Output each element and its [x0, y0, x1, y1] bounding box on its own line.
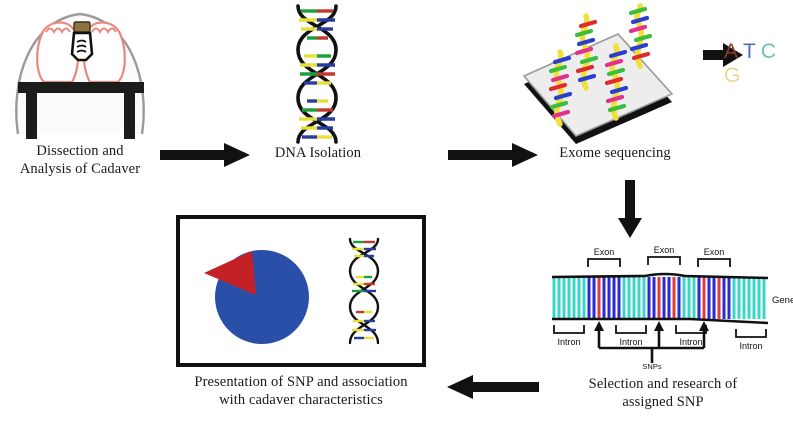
sequencing-chip — [524, 34, 672, 144]
exon-brackets — [588, 257, 730, 267]
gene-body — [552, 274, 768, 323]
step-dissection-illustration — [0, 2, 165, 142]
caption-dna-isolation: DNA Isolation — [253, 145, 383, 163]
snps-label: SNPs — [642, 362, 661, 371]
arrow-gene-to-result — [443, 374, 541, 400]
caption-snp-selection: Selection and research of assigned SNP — [548, 376, 778, 411]
table-top — [18, 82, 144, 93]
exon-label-2: Exon — [654, 245, 675, 255]
dna-helix-large — [298, 6, 336, 142]
step-dna-isolation-illustration — [282, 4, 352, 144]
step-snp-presentation-illustration — [176, 215, 426, 367]
toe-tag-shape — [72, 33, 92, 60]
caption-snp-presentation: Presentation of SNP and association with… — [166, 374, 436, 409]
arrow-exome-to-gene — [617, 180, 643, 240]
base-letter-g: G — [724, 64, 741, 87]
caption-exome-sequencing: Exome sequencing — [540, 145, 690, 163]
step-gene-diagram-illustration: Exon Exon Exon Intron Intron Intron Intr… — [540, 245, 790, 370]
intron-label-4: Intron — [739, 341, 762, 351]
sequence-readout-atcg: A T C G — [724, 40, 793, 68]
figure-canvas: Dissection and Analysis of Cadaver — [0, 0, 793, 421]
intron-label-2: Intron — [619, 337, 642, 347]
step-exome-sequencing-illustration — [520, 6, 695, 146]
table-leg-left — [26, 93, 37, 139]
base-letter-a: A — [724, 40, 739, 63]
arrow-dissection-to-dna — [160, 142, 252, 168]
exon-label-3: Exon — [704, 247, 725, 257]
base-letter-c: C — [761, 40, 777, 63]
table-leg-right — [124, 93, 135, 139]
tag-knot — [74, 22, 90, 32]
intron-label-1: Intron — [557, 337, 580, 347]
exon-label-1: Exon — [594, 247, 615, 257]
intron-label-3: Intron — [679, 337, 702, 347]
base-letter-t: T — [743, 40, 757, 63]
caption-dissection: Dissection and Analysis of Cadaver — [0, 143, 160, 178]
gene-label: Gene — [772, 295, 793, 306]
